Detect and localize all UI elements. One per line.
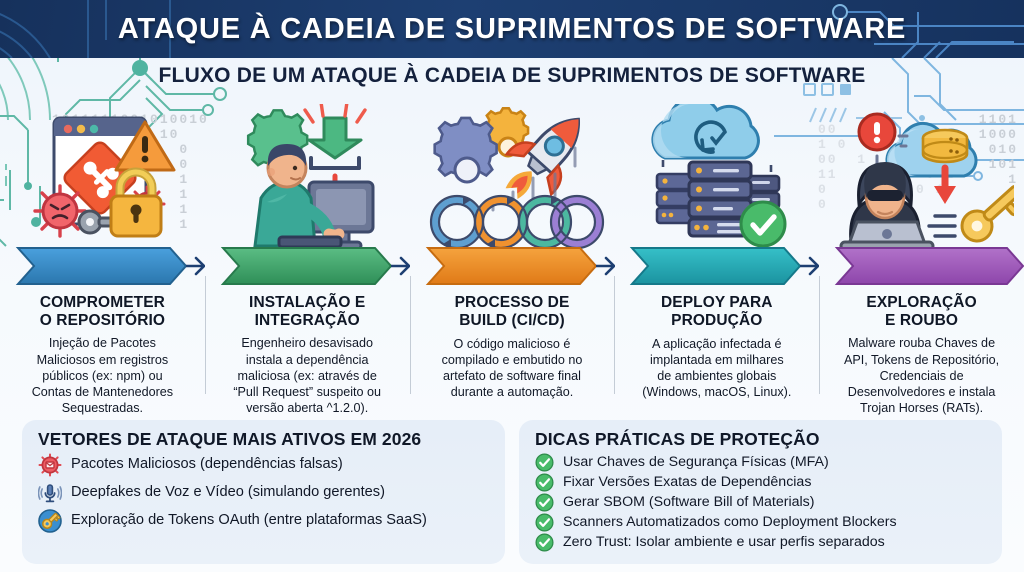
list-item[interactable]: Exploração de Tokens OAuth (entre plataf… (38, 509, 491, 533)
check-circle-icon (535, 493, 554, 512)
list-item-label: Gerar SBOM (Software Bill of Materials) (563, 494, 815, 511)
stage-1-arrow (0, 244, 205, 288)
stage-comprometer-o-repositorio[interactable]: COMPROMETER O REPOSITÓRIO Injeção de Pac… (0, 104, 205, 416)
stage-3-art (410, 104, 615, 262)
check-circle-icon (535, 473, 554, 492)
stage-5-arrow (819, 244, 1024, 288)
check-circle-icon (535, 533, 554, 552)
list-item[interactable]: Zero Trust: Isolar ambiente e usar perfi… (535, 533, 988, 552)
bottom-panels: VETORES DE ATAQUE MAIS ATIVOS EM 2026 Pa… (0, 420, 1024, 572)
list-item-label: Pacotes Maliciosos (dependências falsas) (71, 456, 343, 474)
list-item[interactable]: Gerar SBOM (Software Bill of Materials) (535, 493, 988, 512)
list-item[interactable]: Pacotes Maliciosos (dependências falsas) (38, 453, 491, 477)
stage-processo-de-build[interactable]: PROCESSO DE BUILD (CI/CD) O código malic… (410, 104, 615, 416)
attack-flow: COMPROMETER O REPOSITÓRIO Injeção de Pac… (0, 104, 1024, 416)
stage-2-title: INSTALAÇÃO E INTEGRAÇÃO (249, 294, 365, 331)
stage-2-description: Engenheiro desavisado instala a dependên… (225, 335, 389, 416)
check-circle-icon (535, 513, 554, 532)
stage-deploy-para-producao[interactable]: DEPLOY PARA PRODUÇÃO A aplicação infecta… (614, 104, 819, 416)
stage-5-title: EXPLORAÇÃO E ROUBO (866, 294, 976, 331)
cloud-servers-deploy-check-icon (627, 104, 807, 262)
list-item-label: Usar Chaves de Segurança Físicas (MFA) (563, 454, 829, 471)
subtitle: FLUXO DE UM ATAQUE À CADEIA DE SUPRIMENT… (0, 64, 1024, 88)
stage-2-arrow (205, 244, 410, 288)
stage-3-arrow (410, 244, 615, 288)
header-title: ATAQUE À CADEIA DE SUPRIMENTOS DE SOFTWA… (118, 13, 906, 46)
stage-1-title: COMPROMETER O REPOSITÓRIO (40, 294, 165, 331)
stage-4-arrow (614, 244, 819, 288)
key-token-icon (38, 509, 62, 533)
stage-4-description: A aplicação infectada é implantada em mi… (634, 336, 799, 400)
stage-2-art (205, 104, 410, 262)
list-item-label: Fixar Versões Exatas de Dependências (563, 474, 811, 491)
gears-rocket-devops-infinity-icon (417, 104, 607, 262)
list-item-label: Exploração de Tokens OAuth (entre plataf… (71, 512, 427, 530)
microphone-deepfake-icon (38, 481, 62, 505)
stage-1-description: Injeção de Pacotes Maliciosos em registr… (24, 335, 181, 416)
dicas-list: Usar Chaves de Segurança Físicas (MFA) F… (535, 453, 988, 552)
list-item[interactable]: Fixar Versões Exatas de Dependências (535, 473, 988, 492)
stage-5-art (819, 104, 1024, 262)
stage-5-description: Malware rouba Chaves de API, Tokens de R… (836, 335, 1007, 416)
list-item[interactable]: Usar Chaves de Segurança Físicas (MFA) (535, 453, 988, 472)
dicas-panel-title: DICAS PRÁTICAS DE PROTEÇÃO (535, 429, 988, 450)
header-bar: ATAQUE À CADEIA DE SUPRIMENTOS DE SOFTWA… (0, 0, 1024, 58)
stage-1-art (0, 104, 205, 262)
list-item-label: Deepfakes de Voz e Vídeo (simulando gere… (71, 484, 385, 502)
vetores-list: Pacotes Maliciosos (dependências falsas) (38, 453, 491, 533)
panel-vetores-de-ataque: VETORES DE ATAQUE MAIS ATIVOS EM 2026 Pa… (22, 420, 505, 564)
stage-3-description: O código malicioso é compilado e embutid… (434, 336, 591, 400)
panel-dicas-de-protecao: DICAS PRÁTICAS DE PROTEÇÃO Usar Chaves d… (519, 420, 1002, 564)
list-item-label: Zero Trust: Isolar ambiente e usar perfi… (563, 534, 885, 551)
vetores-panel-title: VETORES DE ATAQUE MAIS ATIVOS EM 2026 (38, 429, 491, 450)
stage-exploracao-e-roubo[interactable]: EXPLORAÇÃO E ROUBO Malware rouba Chaves … (819, 104, 1024, 416)
stage-4-art (614, 104, 819, 262)
stage-3-title: PROCESSO DE BUILD (CI/CD) (455, 294, 570, 331)
hacker-laptop-cloud-database-key-icon (829, 104, 1014, 262)
list-item-label: Scanners Automatizados como Deployment B… (563, 514, 897, 531)
developer-at-computer-download-icon (217, 104, 397, 262)
stage-instalacao-e-integracao[interactable]: INSTALAÇÃO E INTEGRAÇÃO Engenheiro desav… (205, 104, 410, 416)
stage-4-title: DEPLOY PARA PRODUÇÃO (661, 294, 773, 331)
infographic-page: 1011111001010010 111 10 11 0 10 0 01 1 1… (0, 0, 1024, 572)
check-circle-icon (535, 453, 554, 472)
virus-package-icon (38, 453, 62, 477)
repository-window-git-virus-padlock-icon (12, 104, 192, 262)
list-item[interactable]: Deepfakes de Voz e Vídeo (simulando gere… (38, 481, 491, 505)
list-item[interactable]: Scanners Automatizados como Deployment B… (535, 513, 988, 532)
